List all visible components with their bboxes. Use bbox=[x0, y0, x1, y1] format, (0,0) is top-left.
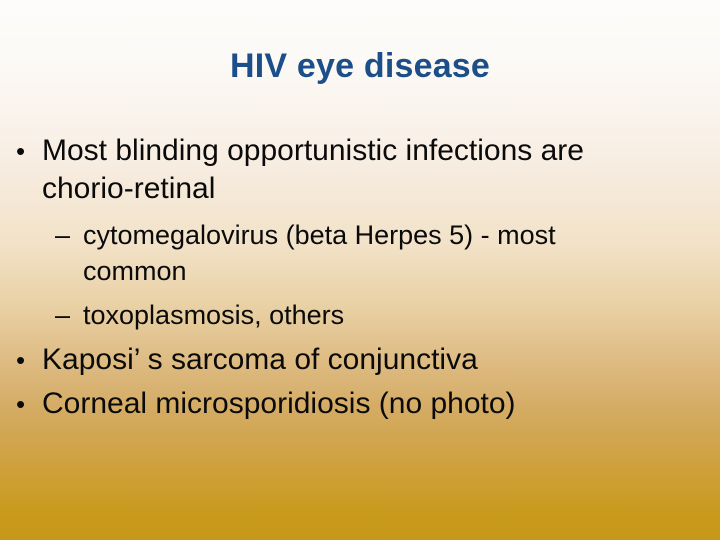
bullet-item-level1: • Kaposi’ s sarcoma of conjunctiva bbox=[0, 341, 720, 379]
spacer bbox=[0, 289, 720, 297]
en-dash-bullet-icon: – bbox=[55, 297, 83, 333]
bullet-item-level2: – toxoplasmosis, others bbox=[0, 297, 720, 333]
bullet-item-level1: • Most blinding opportunistic infections… bbox=[0, 132, 720, 208]
bullet-item-level1: • Corneal microsporidiosis (no photo) bbox=[0, 385, 720, 423]
bullet-text: Most blinding opportunistic infections a… bbox=[42, 132, 682, 208]
round-bullet-icon: • bbox=[16, 385, 42, 423]
presentation-slide: HIV eye disease • Most blinding opportun… bbox=[0, 0, 720, 540]
bullet-text: cytomegalovirus (beta Herpes 5) - most c… bbox=[83, 217, 643, 289]
bullet-text: toxoplasmosis, others bbox=[83, 297, 643, 333]
slide-title: HIV eye disease bbox=[0, 45, 720, 87]
spacer bbox=[0, 208, 720, 217]
en-dash-bullet-icon: – bbox=[55, 217, 83, 253]
bullet-text: Corneal microsporidiosis (no photo) bbox=[42, 385, 682, 423]
bullet-text: Kaposi’ s sarcoma of conjunctiva bbox=[42, 341, 682, 379]
spacer bbox=[0, 333, 720, 341]
round-bullet-icon: • bbox=[16, 341, 42, 379]
slide-body-content: • Most blinding opportunistic infections… bbox=[0, 132, 720, 423]
round-bullet-icon: • bbox=[16, 132, 42, 170]
bullet-item-level2: – cytomegalovirus (beta Herpes 5) - most… bbox=[0, 217, 720, 289]
